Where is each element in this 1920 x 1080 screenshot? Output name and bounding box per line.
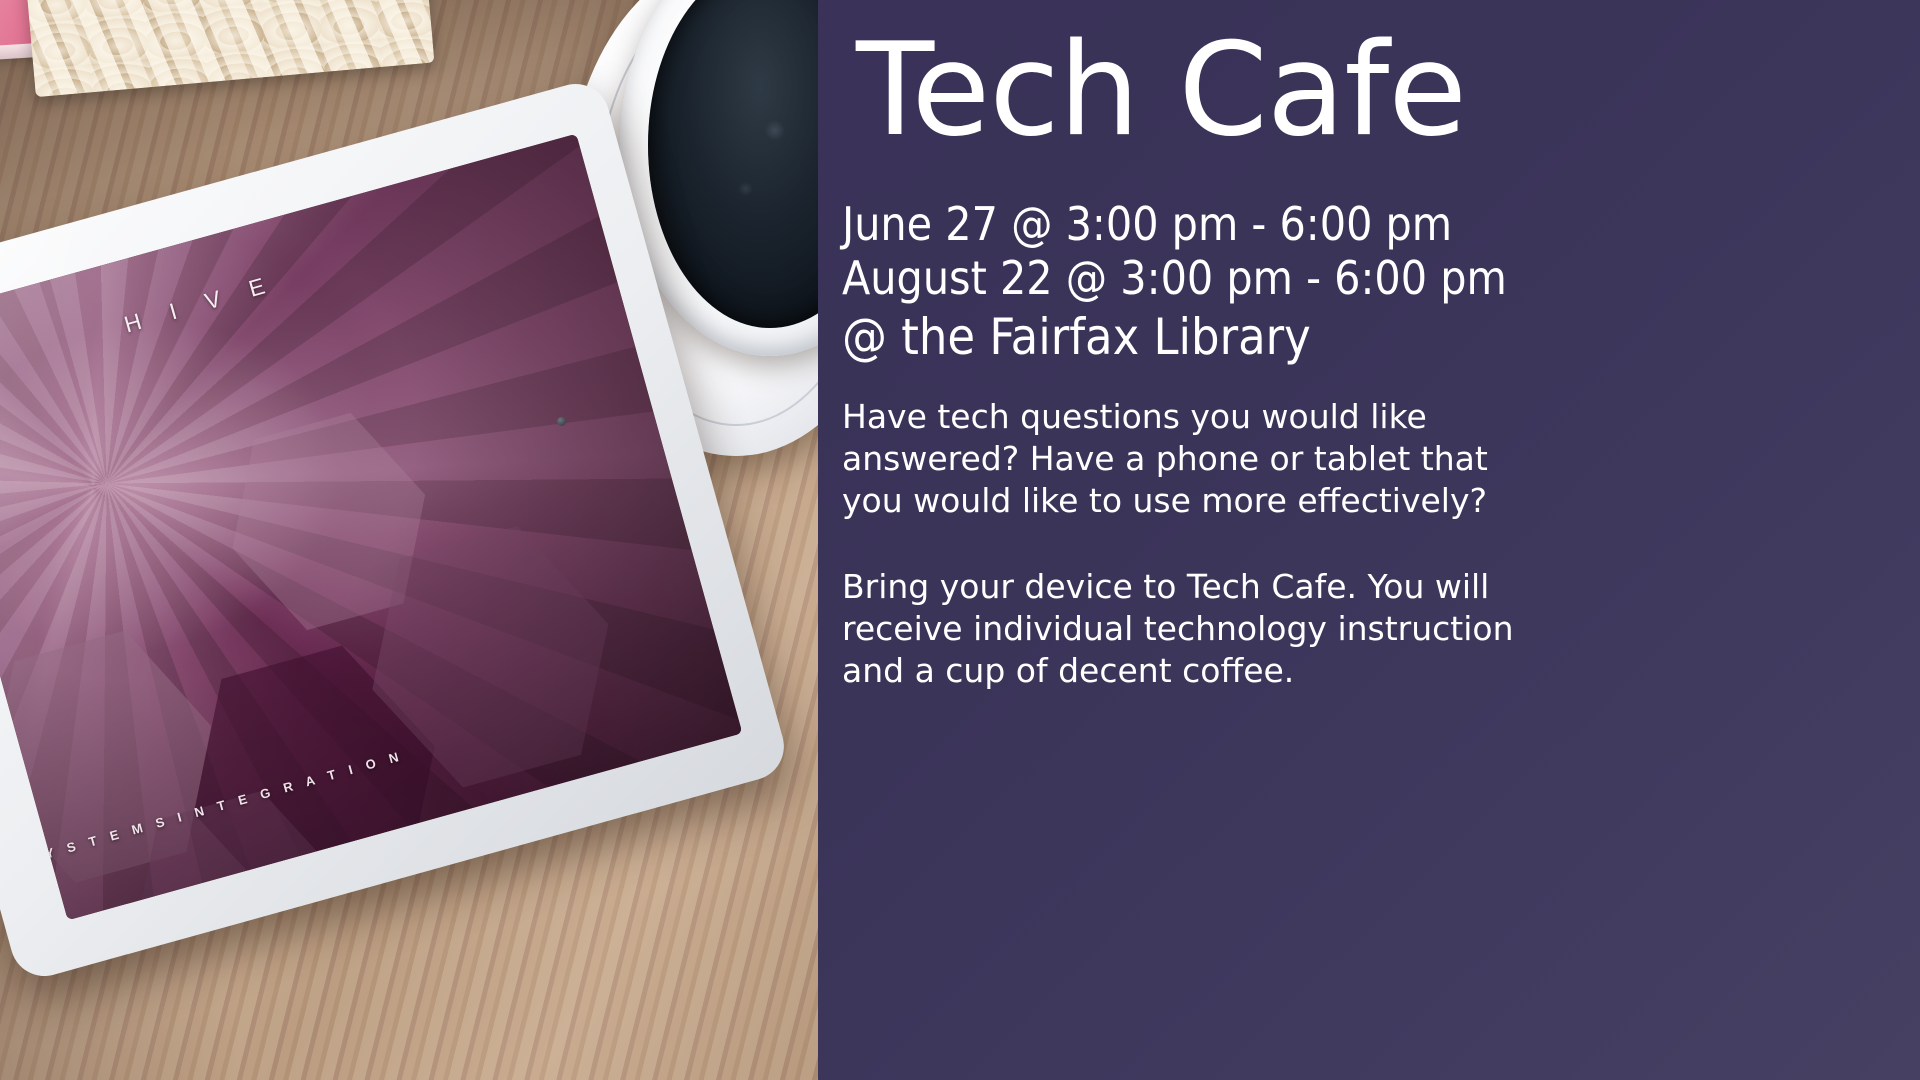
body-line: you would like to use more effectively? xyxy=(842,480,1562,522)
body-line: Have tech questions you would like xyxy=(842,396,1562,438)
body-line: receive individual technology instructio… xyxy=(842,608,1562,650)
schedule-date-1: June 27 @ 3:00 pm - 6:00 pm xyxy=(842,198,1507,252)
body-line: answered? Have a phone or tablet that xyxy=(842,438,1562,480)
tablet-camera-icon xyxy=(557,417,566,426)
photo-panel: H I V E Y S T E M S I N T E G R A T I O … xyxy=(0,0,818,1080)
body-paragraph-2: Bring your device to Tech Cafe. You will… xyxy=(842,566,1562,692)
page-title: Tech Cafe xyxy=(856,26,1466,157)
schedule-location: @ the Fairfax Library xyxy=(842,308,1507,366)
text-panel: Tech Cafe June 27 @ 3:00 pm - 6:00 pm Au… xyxy=(818,0,1920,1080)
event-slide: H I V E Y S T E M S I N T E G R A T I O … xyxy=(0,0,1920,1080)
schedule-block: June 27 @ 3:00 pm - 6:00 pm August 22 @ … xyxy=(842,198,1507,366)
body-line: Bring your device to Tech Cafe. You will xyxy=(842,566,1562,608)
body-line: and a cup of decent coffee. xyxy=(842,650,1562,692)
body-copy: Have tech questions you would like answe… xyxy=(842,396,1562,691)
body-paragraph-1: Have tech questions you would like answe… xyxy=(842,396,1562,522)
schedule-date-2: August 22 @ 3:00 pm - 6:00 pm xyxy=(842,252,1507,306)
